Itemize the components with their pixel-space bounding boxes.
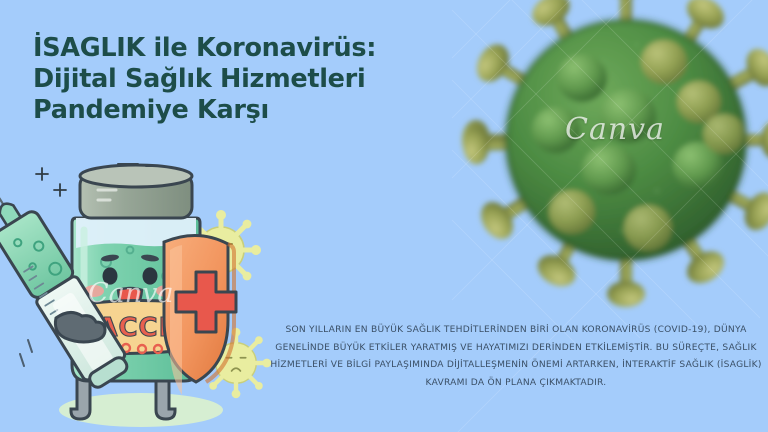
poster-canvas: Canva	[0, 0, 768, 432]
coronavirus-illustration	[452, 0, 768, 314]
vaccine-character-illustration: VACCINE	[0, 158, 272, 432]
body-paragraph: SON YILLARIN EN BÜYÜK SAĞLIK TEHDİTLERİN…	[268, 322, 764, 392]
page-title: İSAGLIK ile Koronavirüs: Dijital Sağlık …	[33, 33, 453, 126]
